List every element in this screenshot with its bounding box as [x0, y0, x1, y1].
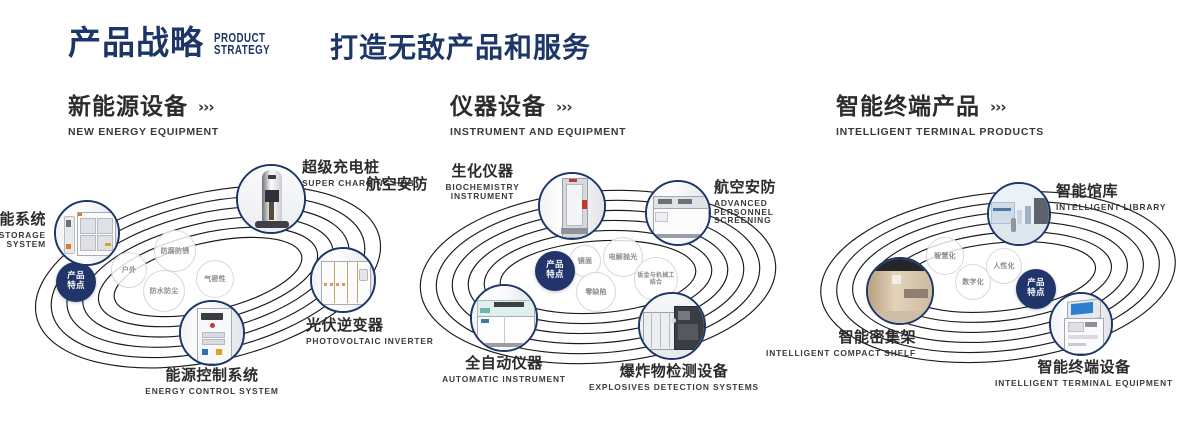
- core-badge-line2: 特点: [67, 282, 85, 292]
- caption-cn: 全自动仪器: [414, 356, 594, 372]
- core-badge-product-features: 产品 特点: [535, 251, 575, 291]
- feature-bubble: 人性化: [986, 248, 1022, 284]
- caption-aviation-security: 航空安防: [338, 177, 428, 193]
- feature-bubble: 零缺陷: [576, 272, 616, 312]
- caption-energy-control-system: 能源控制系统 ENERGY CONTROL SYSTEM: [92, 368, 332, 396]
- biochemistry-analyzer-icon: [540, 174, 604, 238]
- section-title-intelligent-terminal: 智能终端产品 ››› INTELLIGENT TERMINAL PRODUCTS: [836, 96, 1044, 138]
- poster-title-cn: 产品战略: [68, 26, 204, 59]
- node-energy-storage-system[interactable]: [54, 200, 120, 266]
- poster-title: 产品战略 PRODUCT STRATEGY: [68, 26, 286, 59]
- caption-en: INTELLIGENT TERMINAL EQUIPMENT: [991, 379, 1177, 388]
- section-title-en: INSTRUMENT AND EQUIPMENT: [450, 126, 626, 138]
- feature-bubble: 气密性: [196, 260, 234, 298]
- caption-biochemistry-instrument: 生化仪器 BIOCHEMISTRY INSTRUMENT: [420, 164, 545, 200]
- caption-en: AUTOMATIC INSTRUMENT: [414, 375, 594, 384]
- ev-charging-pile-icon: [238, 166, 304, 232]
- section-title-cn: 新能源设备: [68, 96, 188, 119]
- caption-cn: 航空安防: [338, 177, 428, 193]
- caption-cn: 爆炸物检测设备: [584, 364, 764, 380]
- caption-cn: 智能密集架: [748, 330, 916, 346]
- pv-inverter-cabinet-icon: [312, 249, 374, 311]
- chevrons-icon: ›››: [990, 100, 1006, 115]
- caption-intelligent-compact-shelf: 智能密集架 INTELLIGENT COMPACT SHELF: [748, 330, 916, 358]
- core-badge-product-features: 产品 特点: [56, 262, 96, 302]
- caption-intelligent-terminal-equipment: 智能终端设备 INTELLIGENT TERMINAL EQUIPMENT: [991, 360, 1177, 388]
- caption-en: BIOCHEMISTRY INSTRUMENT: [420, 183, 545, 201]
- feature-bubble: 防腐防锈: [154, 230, 196, 272]
- caption-intelligent-library: 智能馆库 INTELLIGENT LIBRARY: [1056, 184, 1200, 212]
- caption-en: INTELLIGENT LIBRARY: [1056, 203, 1200, 212]
- node-intelligent-compact-shelf[interactable]: [866, 257, 934, 325]
- poster-subtitle: 打造无敌产品和服务: [330, 34, 591, 62]
- node-intelligent-terminal-equipment[interactable]: [1049, 292, 1113, 356]
- caption-en: INTELLIGENT COMPACT SHELF: [748, 349, 916, 358]
- caption-en: EXPLOSIVES DETECTION SYSTEMS: [584, 383, 764, 392]
- feature-bubble: 防水防尘: [143, 270, 185, 312]
- cluster-instrument: 镜面 电解抛光 零缺陷 钣金与机械工结合 产品 特点 生化仪器 BIOCHEMI…: [398, 152, 798, 402]
- section-title-cn: 智能终端产品: [836, 96, 980, 119]
- cluster-intelligent-terminal: 智慧化 数字化 人性化 产品 特点 智能馆库 INTELLIGENT LIBRA…: [798, 152, 1198, 402]
- poster-title-en: PRODUCT STRATEGY: [214, 32, 270, 58]
- section-title-en: INTELLIGENT TERMINAL PRODUCTS: [836, 126, 1044, 138]
- node-intelligent-library[interactable]: [987, 182, 1051, 246]
- caption-en: ADVANCED PERSONNEL SCREENING: [714, 199, 810, 225]
- node-explosives-detection-systems[interactable]: [638, 292, 706, 360]
- caption-explosives-detection-systems: 爆炸物检测设备 EXPLOSIVES DETECTION SYSTEMS: [584, 364, 764, 392]
- personnel-screening-unit-icon: [647, 182, 709, 244]
- node-advanced-personnel-screening[interactable]: [645, 180, 711, 246]
- chevrons-icon: ›››: [556, 100, 572, 115]
- self-service-kiosk-icon: [1051, 294, 1111, 354]
- section-title-en: NEW ENERGY EQUIPMENT: [68, 126, 219, 138]
- section-title-cn: 仪器设备: [450, 96, 546, 119]
- core-badge-product-features: 产品 特点: [1016, 269, 1056, 309]
- caption-en: ENERGY STORAGE SYSTEM: [0, 231, 46, 249]
- caption-automatic-instrument: 全自动仪器 AUTOMATIC INSTRUMENT: [414, 356, 594, 384]
- node-photovoltaic-inverter[interactable]: [310, 247, 376, 313]
- node-automatic-instrument[interactable]: [470, 284, 538, 352]
- caption-cn: 智能馆库: [1056, 184, 1200, 200]
- caption-cn: 生化仪器: [420, 164, 545, 180]
- node-energy-control-system[interactable]: [179, 300, 245, 366]
- smart-library-room-icon: [989, 184, 1049, 244]
- poster-canvas: 产品战略 PRODUCT STRATEGY 打造无敌产品和服务 新能源设备 ››…: [0, 0, 1200, 422]
- caption-en: ENERGY CONTROL SYSTEM: [92, 387, 332, 396]
- node-biochemistry-instrument[interactable]: [538, 172, 606, 240]
- caption-cn: 智能终端设备: [991, 360, 1177, 376]
- compact-shelving-icon: [868, 259, 932, 323]
- core-badge-line2: 特点: [1027, 289, 1045, 299]
- automatic-instrument-icon: [472, 286, 536, 350]
- section-title-instrument: 仪器设备 ››› INSTRUMENT AND EQUIPMENT: [450, 96, 626, 138]
- caption-cn: 储能系统: [0, 212, 46, 228]
- caption-cn: 能源控制系统: [92, 368, 332, 384]
- section-title-new-energy: 新能源设备 ››› NEW ENERGY EQUIPMENT: [68, 96, 219, 138]
- energy-storage-cabinet-icon: [56, 202, 118, 264]
- node-super-charging-hub[interactable]: [236, 164, 306, 234]
- caption-energy-storage-system: 储能系统 ENERGY STORAGE SYSTEM: [0, 212, 46, 248]
- chevrons-icon: ›››: [198, 100, 214, 115]
- explosives-detector-icon: [640, 294, 704, 358]
- core-badge-line2: 特点: [546, 271, 564, 281]
- energy-control-cabinet-icon: [181, 302, 243, 364]
